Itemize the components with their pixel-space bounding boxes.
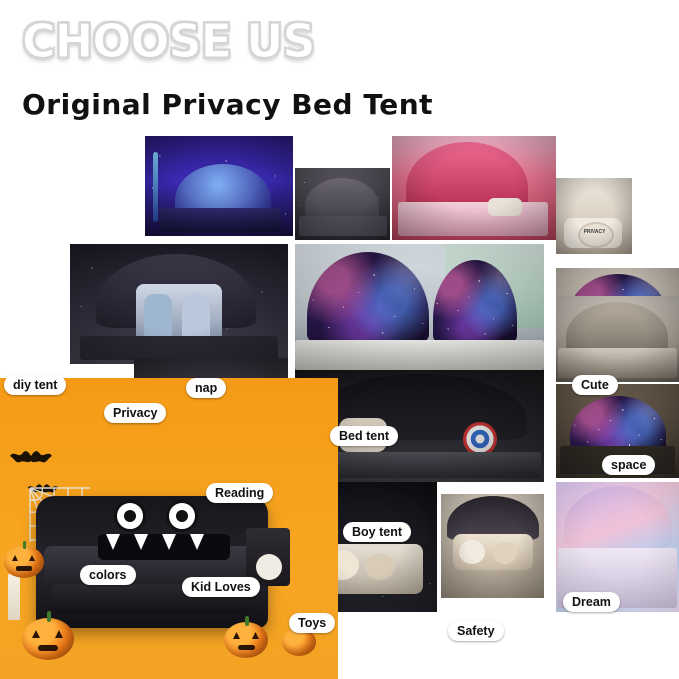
side-object-white: [256, 554, 282, 580]
label-nap[interactable]: nap: [186, 378, 226, 398]
label-kid-loves[interactable]: Kid Loves: [182, 577, 260, 597]
label-boy-tent[interactable]: Boy tent: [343, 522, 411, 542]
label-diy-tent[interactable]: diy tent: [4, 375, 66, 395]
bat-icon: [8, 448, 54, 470]
photo-beige-tent-room: [556, 296, 679, 382]
photo-privacy-pop-pillow: PRIVACY: [556, 178, 632, 254]
photo-pink-tent: [392, 136, 556, 240]
label-cute[interactable]: Cute: [572, 375, 618, 395]
pumpkin-icon-2: [22, 618, 74, 660]
photo-safety-tent: [441, 494, 544, 598]
candle-icon: [8, 574, 20, 620]
label-toys[interactable]: Toys: [289, 613, 335, 633]
photo-blue-glow-tent: [145, 136, 293, 236]
poster-root: CHOOSE US Original Privacy Bed Tent PRIV…: [0, 0, 679, 679]
label-colors[interactable]: colors: [80, 565, 136, 585]
monster-face: [92, 500, 242, 570]
label-privacy[interactable]: Privacy: [104, 403, 166, 423]
page-title: CHOOSE US: [22, 14, 315, 68]
photo-grey-star-tent: [295, 168, 390, 240]
label-bed-tent[interactable]: Bed tent: [330, 426, 398, 446]
label-dream[interactable]: Dream: [563, 592, 620, 612]
label-safety[interactable]: Safety: [448, 621, 504, 641]
pumpkin-icon-3: [224, 622, 268, 658]
photo-kids-in-tent: [70, 244, 288, 364]
page-subtitle: Original Privacy Bed Tent: [22, 88, 433, 121]
label-reading[interactable]: Reading: [206, 483, 273, 503]
pumpkin-icon-1: [4, 546, 44, 578]
photo-halloween-monster-tent: [0, 378, 338, 679]
photo-galaxy-tent-window: [295, 244, 544, 370]
label-space[interactable]: space: [602, 455, 655, 475]
